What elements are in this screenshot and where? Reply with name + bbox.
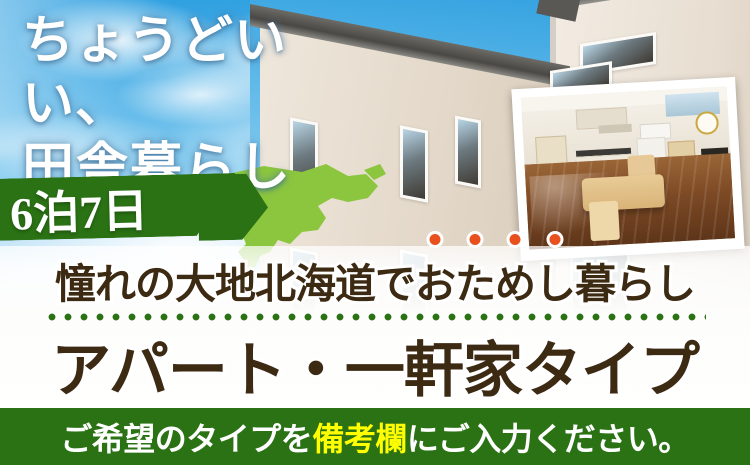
subheadline-emphasis-text: おためし [415,260,575,308]
cta-suffix: にご入力ください。 [407,414,690,460]
subheadline-emphasis: おためし [415,250,575,310]
dotted-divider [44,313,706,321]
headline-line-1: ちょうどいい、 [22,13,287,133]
promo-banner: ちょうどいい、 田舎暮らし 6泊7日 [0,0,750,465]
wall-clock-icon [695,111,719,134]
cta-text: ご希望のタイプを備考欄にご入力ください。 [0,408,750,465]
subheadline-prefix: 憧れの大地北海道で [55,250,415,310]
building-window [400,125,428,202]
cta-prefix: ご希望のタイプを [60,414,312,460]
room-photo-polaroid [511,77,744,261]
page-title: ちょうどいい、 田舎暮らし [22,10,352,200]
cta-highlight: 備考欄 [312,414,407,460]
subheadline-suffix: 暮らし [575,250,695,310]
emphasis-dot-icon [550,234,561,245]
room-interior-photo [521,86,735,249]
emphasis-dot-icon [470,234,481,245]
stay-duration-label: 6泊7日 [9,177,230,238]
dining-chair [589,201,620,242]
subheadline: 憧れの大地北海道でおためし暮らし [0,252,750,308]
emphasis-dot-icon [430,234,441,245]
building-window [455,115,481,188]
housing-type-title: アパート・一軒家タイプ [0,326,750,404]
emphasis-dot-icon [510,234,521,245]
